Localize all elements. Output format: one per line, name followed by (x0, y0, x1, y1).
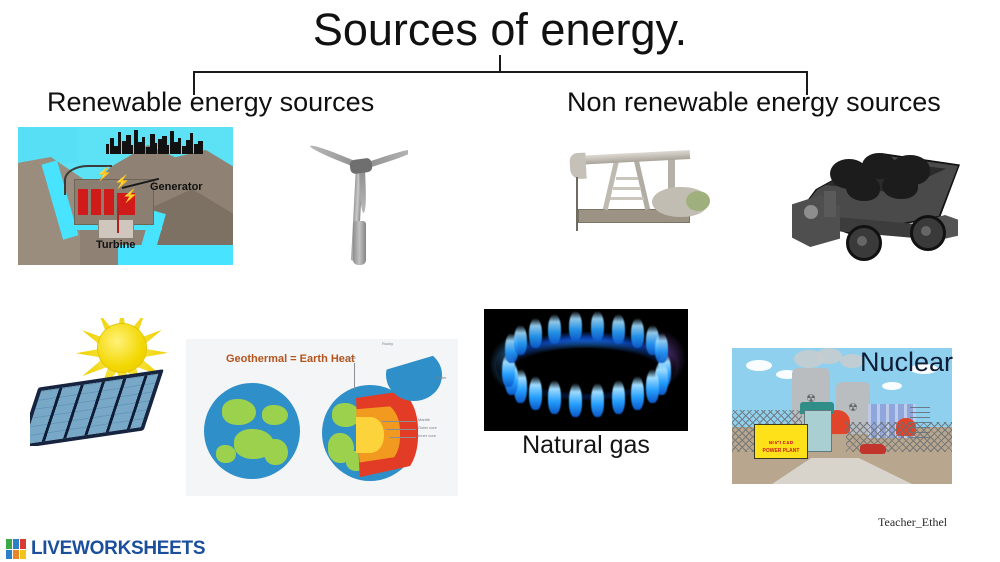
logo-tile (6, 550, 12, 560)
dam-label-turbine: Turbine (96, 239, 136, 251)
flame-tongue (529, 318, 542, 348)
pumpjack-counterweight-highlight (686, 191, 710, 211)
turbine-nacelle (349, 158, 373, 175)
continent-shape (386, 365, 406, 379)
logo-tile (13, 539, 19, 549)
pumpjack-polished-rod (576, 177, 578, 231)
cart-wheel (910, 215, 946, 251)
entrance-road (772, 458, 912, 484)
pumpjack-rung (610, 197, 644, 200)
geothermal-title: Geothermal = Earth Heat (226, 353, 355, 365)
pumpjack-aframe-leg (634, 160, 650, 210)
flame-tongue (631, 376, 644, 410)
natural-gas-caption: Natural gas (484, 430, 688, 460)
flame-tongue (631, 318, 644, 348)
pumpjack-rung (616, 177, 638, 180)
steam-plume (816, 348, 842, 364)
continent-shape (386, 349, 408, 365)
solar-panel-image (30, 318, 180, 446)
page-title: Sources of energy. (0, 2, 1000, 58)
earth-layer-core (356, 417, 384, 453)
gatehouse (804, 410, 832, 452)
geo-label-crust: Crust (346, 355, 356, 360)
logo-tile (13, 550, 19, 560)
flame-tongue (591, 383, 604, 417)
geo-label-inner-core: Inner core (418, 433, 436, 438)
liveworksheets-wordmark: LIVEWORKSHEETS (31, 538, 205, 560)
leader-line-inner-core (390, 437, 416, 438)
leader-line-crust (354, 363, 355, 389)
geothermal-diagram-image: Geothermal = Earth Heat Crust Mantle Out… (186, 339, 458, 496)
cloud (882, 382, 902, 390)
dam-turbine-shaft (117, 207, 119, 233)
continent-shape (216, 445, 236, 463)
geo-label-rocky: Rocky (382, 341, 393, 346)
flame-tongue (612, 314, 625, 344)
flame-tongue (655, 333, 668, 363)
wind-turbine-image (308, 127, 408, 270)
turbine-base (353, 221, 366, 265)
flame-tongue (569, 383, 582, 417)
cart-coupling-knob (804, 205, 818, 219)
dam-label-generator: Generator (150, 181, 203, 193)
pumpjack-rung (613, 187, 641, 190)
natural-gas-flame-image (484, 309, 688, 431)
logo-tile (6, 539, 12, 549)
continent-shape (262, 405, 288, 425)
parked-car (860, 444, 886, 454)
hydroelectric-dam-image: Generator Turbine (18, 127, 233, 265)
liveworksheets-logo[interactable]: LIVEWORKSHEETS (6, 538, 205, 560)
flame-tongue (529, 376, 542, 410)
logo-tile (20, 539, 26, 549)
category-label-renewable: Renewable energy sources (47, 86, 374, 118)
geo-label-outer-core: Outer core (418, 425, 437, 430)
continent-shape (222, 399, 256, 425)
earth-globe-inset (386, 349, 442, 401)
flame-tongue (569, 311, 582, 341)
logo-tile (20, 550, 26, 560)
coal-lump (882, 173, 918, 199)
cloud (746, 360, 772, 371)
oil-pump-jack-image (556, 137, 716, 235)
flame-tongue (548, 314, 561, 344)
leader-line-mantle (382, 421, 416, 422)
coal-cart-image (790, 133, 980, 273)
sun-icon (98, 324, 146, 372)
liveworksheets-grid-icon (6, 539, 26, 559)
sign-line-3: POWER PLANT (763, 448, 800, 454)
pumpjack-horse-head (569, 153, 586, 180)
bracket-horizontal (193, 71, 808, 73)
flame-tongue (612, 380, 625, 414)
solar-panel (30, 369, 164, 446)
solar-panel-cells (30, 374, 158, 445)
geo-label-mantle: Mantle (418, 417, 430, 422)
earth-globe-whole (204, 383, 300, 479)
springfield-nuclear-sign-line3: POWER PLANT (754, 444, 808, 459)
geo-label-water: Water (436, 375, 447, 380)
flame-tongue (548, 380, 561, 414)
flame-tongue (646, 369, 659, 403)
nuclear-overlay-label: Nuclear (860, 346, 953, 378)
coal-lump (846, 175, 880, 201)
author-credit: Teacher_Ethel (878, 515, 947, 530)
dam-turbine-housing (98, 219, 134, 239)
flame-tongue (591, 311, 604, 341)
leader-line-outer-core (386, 429, 416, 430)
category-label-non-renewable: Non renewable energy sources (567, 86, 941, 118)
cart-wheel (846, 225, 882, 261)
continent-shape (264, 439, 288, 465)
flame-tongue (514, 325, 527, 355)
pumpjack-aframe-leg (603, 160, 619, 210)
city-skyline-silhouette (106, 130, 214, 154)
worksheet-page: Sources of energy. Renewable energy sour… (0, 0, 1000, 562)
cart-front-post (824, 191, 836, 217)
